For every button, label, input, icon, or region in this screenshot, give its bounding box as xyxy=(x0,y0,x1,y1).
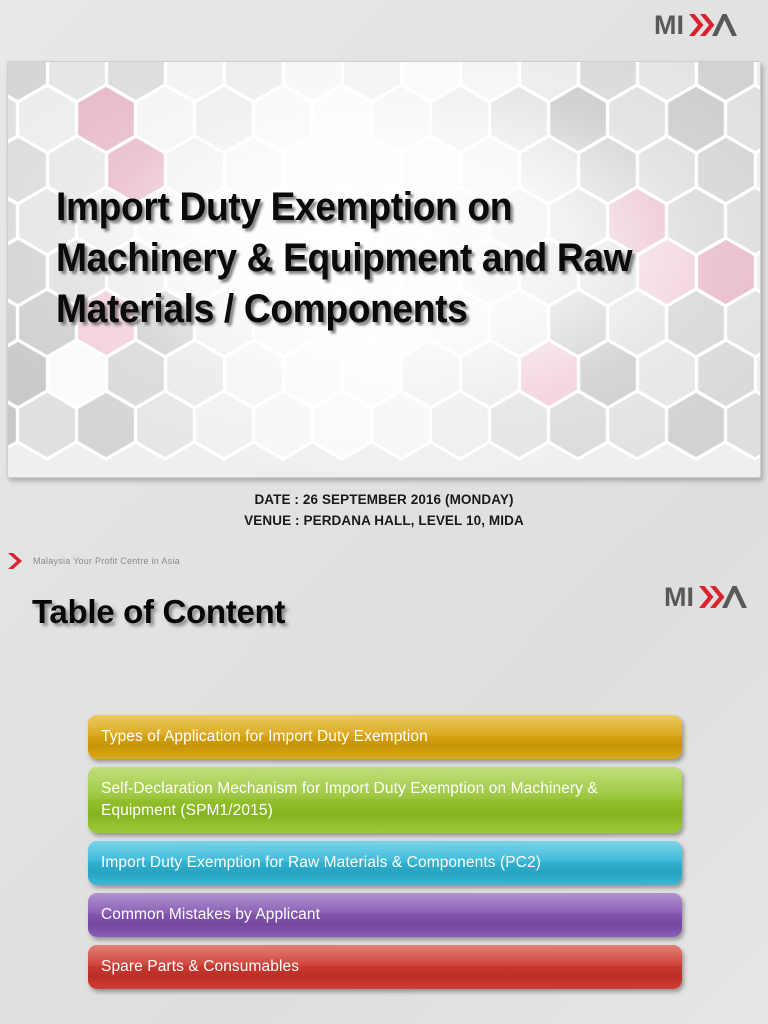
svg-text:MI: MI xyxy=(654,10,684,40)
event-details: DATE : 26 SEPTEMBER 2016 (MONDAY) VENUE … xyxy=(0,490,768,532)
page-title: Import Duty Exemption on Machinery & Equ… xyxy=(56,182,688,336)
table-of-content-slide: MI Table of Content Types of Application… xyxy=(0,560,768,1024)
mida-logo: MI xyxy=(664,580,760,614)
mida-logo-icon: MI xyxy=(664,580,760,614)
toc-item-label: Types of Application for Import Duty Exe… xyxy=(101,726,668,748)
toc-item-spare-parts-consumables[interactable]: Spare Parts & Consumables xyxy=(88,945,682,989)
mida-logo: MI xyxy=(654,8,750,42)
mida-logo-icon: MI xyxy=(654,8,750,42)
toc-item-self-declaration-mechanism[interactable]: Self-Declaration Mechanism for Import Du… xyxy=(88,767,682,833)
toc-item-label: Spare Parts & Consumables xyxy=(101,956,668,978)
toc-item-raw-materials-components[interactable]: Import Duty Exemption for Raw Materials … xyxy=(88,841,682,885)
table-of-content-list: Types of Application for Import Duty Exe… xyxy=(88,715,682,997)
toc-item-label: Import Duty Exemption for Raw Materials … xyxy=(101,852,668,874)
toc-item-types-of-application[interactable]: Types of Application for Import Duty Exe… xyxy=(88,715,682,759)
toc-item-label: Self-Declaration Mechanism for Import Du… xyxy=(101,778,668,822)
event-date: DATE : 26 SEPTEMBER 2016 (MONDAY) xyxy=(0,490,768,511)
section-heading: Table of Content xyxy=(32,593,285,631)
toc-item-common-mistakes[interactable]: Common Mistakes by Applicant xyxy=(88,893,682,937)
hexagon-banner-panel: Import Duty Exemption on Machinery & Equ… xyxy=(7,61,761,478)
event-venue: VENUE : PERDANA HALL, LEVEL 10, MIDA xyxy=(0,511,768,532)
title-slide: MI xyxy=(0,0,768,560)
svg-text:MI: MI xyxy=(664,582,694,612)
toc-item-label: Common Mistakes by Applicant xyxy=(101,904,668,926)
